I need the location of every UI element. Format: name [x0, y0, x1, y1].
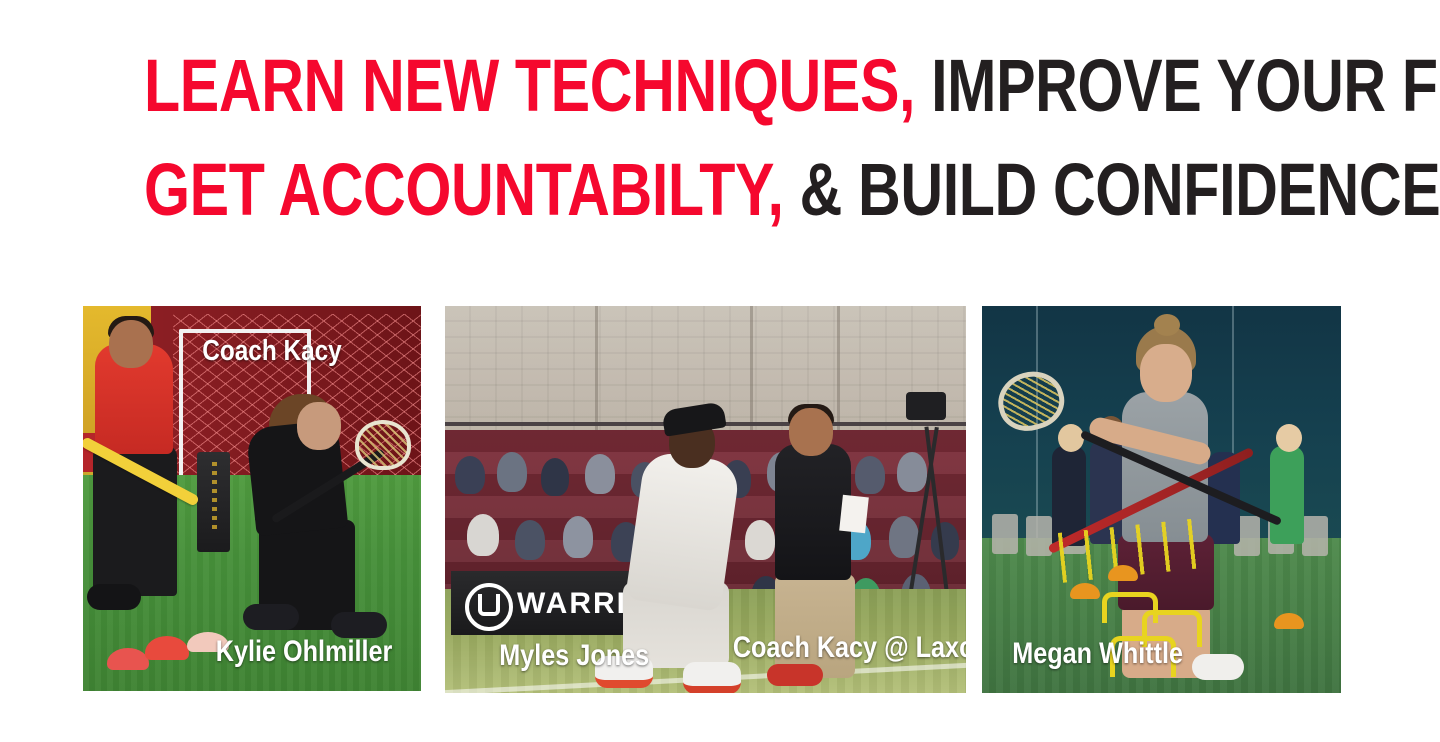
crowd-person — [931, 522, 959, 560]
photo-myles-jones-laxcon[interactable]: WARRIOR Myles Jones Coach Kacy @ Laxcon — [445, 306, 966, 693]
photo-megan-whittle[interactable]: Megan Whittle — [982, 306, 1341, 693]
headline-line-2: GET ACCOUNTABILTY, & BUILD CONFIDENCE — [144, 138, 1296, 242]
crowd-person — [563, 516, 593, 558]
warrior-logo-icon — [465, 583, 513, 631]
player-head — [297, 402, 341, 450]
crowd-person — [467, 514, 499, 556]
crowd-person — [515, 520, 545, 560]
caption-coach-kacy: Coach Kacy — [202, 334, 341, 368]
crowd-person — [745, 520, 775, 560]
photo-coach-kacy-kylie[interactable]: Coach Kacy Kylie Ohlmiller — [83, 306, 421, 691]
wall-seam — [595, 306, 598, 434]
headline-line-2-red: GET ACCOUNTABILTY, — [144, 148, 784, 231]
lacrosse-head-pocket — [355, 420, 411, 470]
pop-up-defender-1 — [197, 452, 230, 552]
caption-myles-jones: Myles Jones — [499, 639, 649, 673]
crowd-person — [541, 458, 569, 496]
folding-chair — [1026, 516, 1052, 556]
coach-shoe — [1192, 654, 1244, 680]
caption-kylie-ohlmiller: Kylie Ohlmiller — [216, 635, 392, 669]
crowd-person — [585, 454, 615, 494]
crowd-person — [855, 456, 885, 494]
headline-block: LEARN NEW TECHNIQUES, IMPROVE YOUR FOOTW… — [0, 34, 1440, 242]
photo-gallery: Coach Kacy Kylie Ohlmiller — [0, 306, 1440, 694]
headline-line-1-red: LEARN NEW TECHNIQUES, — [144, 44, 915, 127]
coach-head — [789, 408, 833, 456]
folding-chair — [1302, 516, 1328, 556]
crowd-person — [455, 456, 485, 494]
wall-seam — [837, 306, 840, 434]
clipboard-paper — [839, 495, 869, 534]
coach-head — [109, 320, 153, 368]
coach-shoe-red — [767, 664, 823, 686]
agility-hurdle — [1102, 592, 1158, 623]
coach-shoe — [87, 584, 141, 610]
wall-seam — [750, 306, 753, 434]
folding-chair — [992, 514, 1018, 554]
caption-coach-kacy-laxcon: Coach Kacy @ Laxcon — [733, 631, 966, 665]
crowd-person — [897, 452, 927, 492]
player-shoe-right — [683, 662, 741, 693]
headline-line-1-dark: IMPROVE YOUR FOOTWORK, — [915, 44, 1440, 127]
young-player-head — [1276, 424, 1302, 452]
photo-3-scene — [982, 306, 1341, 693]
headline-line-2-dark: & BUILD CONFIDENCE — [784, 148, 1440, 231]
young-player-head — [1058, 424, 1084, 452]
player-shoe-left — [243, 604, 299, 630]
young-player — [1270, 446, 1304, 544]
caption-megan-whittle: Megan Whittle — [1012, 637, 1183, 671]
headline-line-1: LEARN NEW TECHNIQUES, IMPROVE YOUR FOOTW… — [144, 34, 1296, 138]
camera-body — [906, 392, 946, 420]
crowd-person — [497, 452, 527, 492]
coach-torso-black-shirt — [775, 444, 851, 580]
coach-head — [1140, 344, 1192, 402]
coach-hair-bun — [1154, 314, 1180, 336]
